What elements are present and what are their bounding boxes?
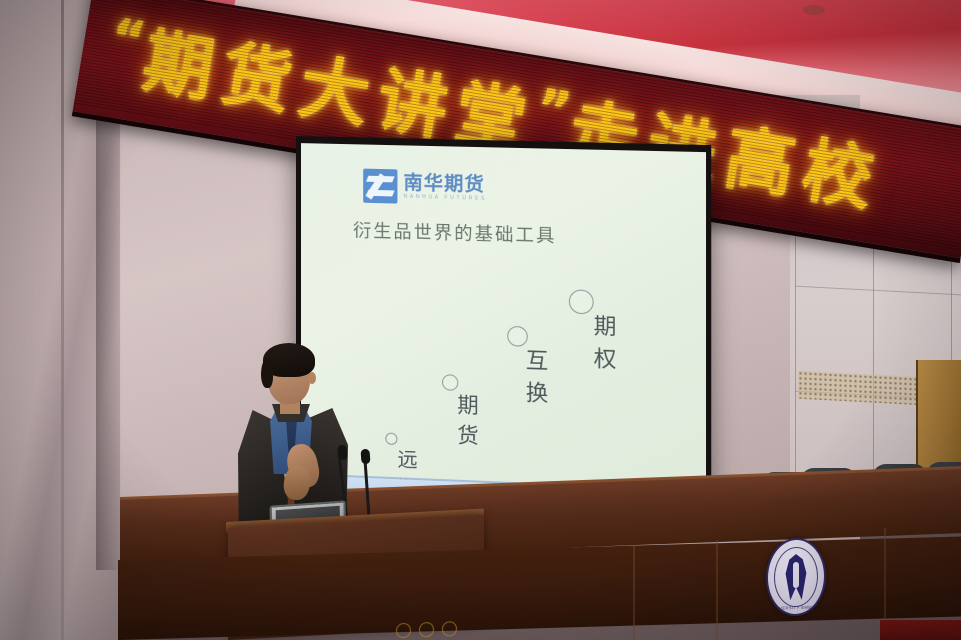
derivatives-diagram: 远期期货互换期权 (301, 143, 706, 152)
diagram-circle-marker (442, 374, 458, 391)
microphone-head-icon (360, 449, 370, 465)
table-panel-seam (633, 545, 635, 640)
logo-english-text: NANHUA FUTURES (404, 195, 488, 202)
logo-mark-icon (363, 169, 397, 204)
lecture-hall-photo: “期货大讲堂”走进高校 南华期货 NANHUA FUTURES 衍生品世界的基础… (0, 0, 961, 640)
podium-gold-text: 〇〇〇 (395, 615, 464, 640)
diagram-node-label: 期货 (457, 389, 480, 450)
ceiling-downlight-icon (803, 5, 825, 15)
diagram-circle-marker (385, 432, 397, 445)
nanhua-futures-logo: 南华期货 NANHUA FUTURES (363, 169, 487, 206)
logo-chinese-text: 南华期货 (404, 174, 488, 195)
diagram-node-label: 期权 (594, 308, 619, 374)
wall-seam (61, 0, 64, 640)
logo-slash-shape (365, 173, 386, 199)
presenter-ear (308, 372, 316, 384)
red-carpet (880, 620, 961, 640)
diagram-circle-marker (507, 326, 527, 347)
diagram-node-label: 互换 (526, 343, 551, 409)
wall-corner-shadow (96, 90, 122, 570)
microphone-head-icon (337, 445, 348, 461)
university-emblem: UNIVERSITY EMBLEM (766, 537, 826, 617)
emblem-crest-gap (793, 562, 799, 588)
table-panel-seam (716, 540, 718, 640)
slide-title: 衍生品世界的基础工具 (353, 217, 556, 249)
presenter-hair-side (261, 358, 273, 388)
projection-screen-frame: 南华期货 NANHUA FUTURES 衍生品世界的基础工具 远期期货互换期权 (296, 136, 711, 526)
diagram-circle-marker (569, 289, 594, 314)
